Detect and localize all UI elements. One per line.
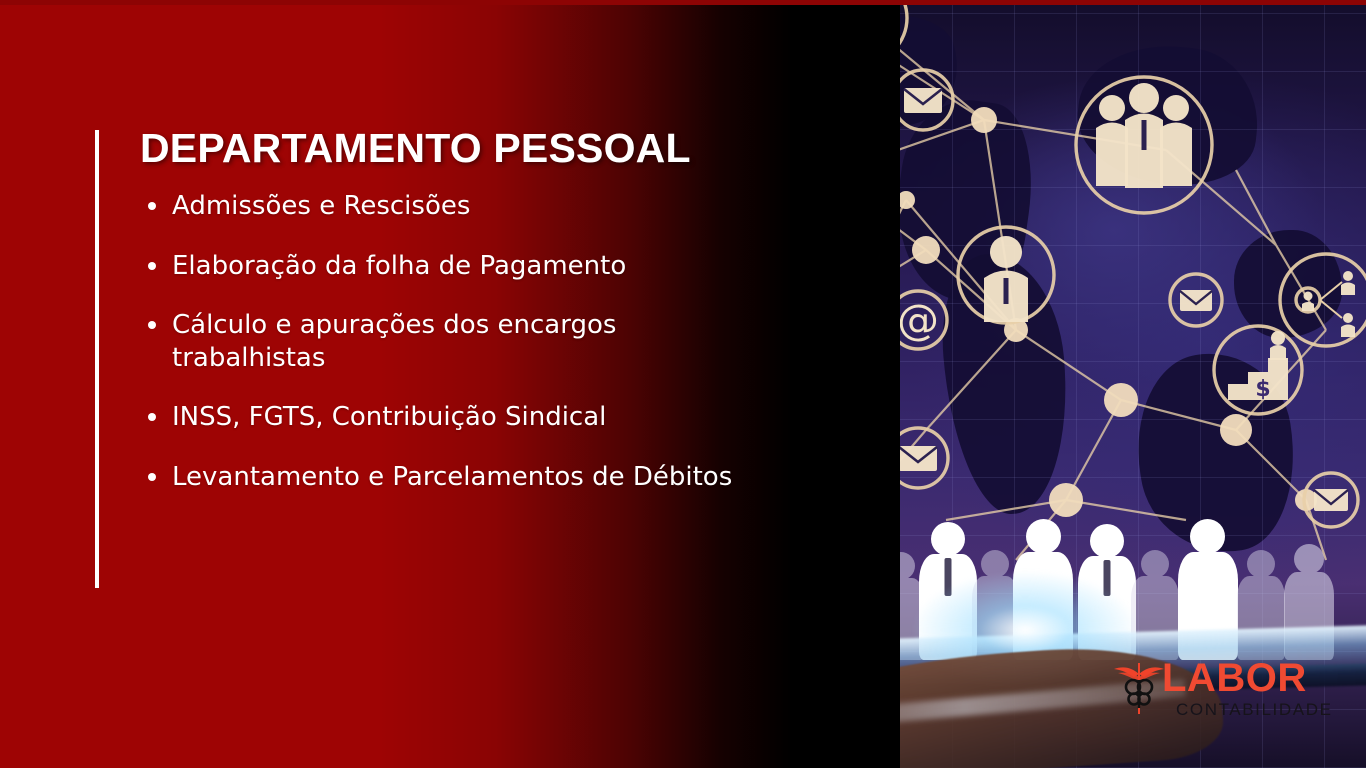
list-item: Admissões e Rescisões xyxy=(140,190,740,223)
list-item: Levantamento e Parcelamentos de Débitos xyxy=(140,461,740,494)
list-item: Cálculo e apurações dos encargos trabalh… xyxy=(140,309,740,376)
caduceus-icon xyxy=(1112,660,1166,716)
logo-tagline: CONTABILIDADE xyxy=(1176,701,1333,718)
logo-wordmark: LABOR xyxy=(1162,658,1333,698)
slide-canvas: .ln{stroke:#e8cfa8;stroke-width:2.2;fill… xyxy=(0,0,1366,768)
brand-logo: LABOR CONTABILIDADE xyxy=(1112,658,1312,720)
list-item: Elaboração da folha de Pagamento xyxy=(140,250,740,283)
accent-bar xyxy=(95,130,99,588)
top-red-strip xyxy=(0,0,1366,5)
logo-text-group: LABOR CONTABILIDADE xyxy=(1162,658,1333,718)
page-title: DEPARTAMENTO PESSOAL xyxy=(140,126,740,170)
service-list: Admissões e Rescisões Elaboração da folh… xyxy=(140,190,740,494)
list-item: INSS, FGTS, Contribuição Sindical xyxy=(140,401,740,434)
text-content: DEPARTAMENTO PESSOAL Admissões e Rescisõ… xyxy=(140,126,740,494)
